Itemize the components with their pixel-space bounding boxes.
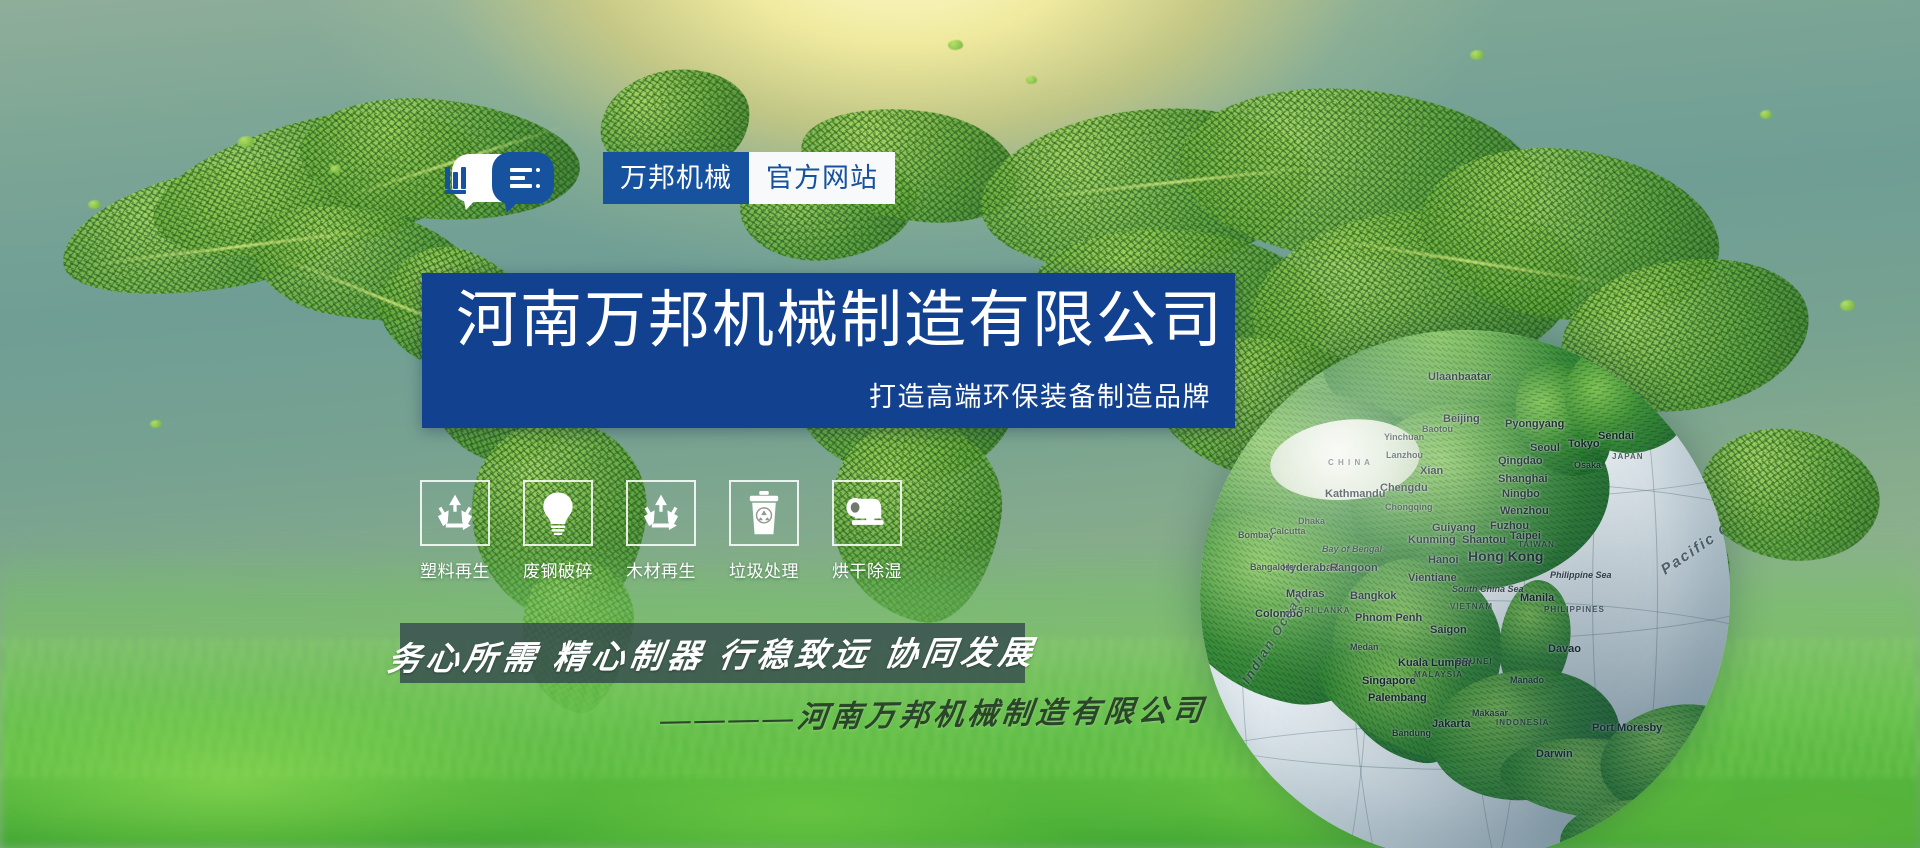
globe-country-label: MALAYSIA [1414, 670, 1463, 679]
slogan-text: 务心所需 精心制器 行稳致远 协同发展 [385, 626, 1041, 681]
globe-city-label: Guiyang [1432, 522, 1476, 534]
service-item-drying-dehumidification[interactable]: 烘干除湿 [832, 480, 902, 582]
globe-country-label: JAPAN [1612, 452, 1644, 461]
globe-city-label: Sendai [1598, 430, 1634, 442]
globe-city-label: Calcutta [1270, 526, 1306, 536]
floating-leaf-fleck [1840, 300, 1855, 311]
globe-city-label: Port Moresby [1592, 722, 1662, 734]
globe-city-label: Bombay [1238, 530, 1274, 540]
page-subtitle: 打造高端环保装备制造品牌 [869, 375, 1211, 414]
service-label: 木材再生 [626, 557, 696, 582]
globe-city-label: Bangkok [1350, 590, 1396, 602]
brand-bar: 万邦机械 官方网站 [452, 150, 895, 206]
globe-city-label: Phnom Penh [1355, 612, 1422, 624]
globe-city-label: Vientiane [1408, 572, 1457, 584]
trash-bin-recycle-icon [746, 491, 782, 535]
globe-city-label: Bangalore [1250, 562, 1294, 572]
globe-city-label: Xian [1420, 465, 1443, 477]
floating-leaf-fleck [330, 165, 341, 173]
globe-city-label: Saigon [1430, 624, 1467, 636]
page-title: 河南万邦机械制造有限公司 [456, 289, 1224, 352]
globe-city-label: Qingdao [1498, 455, 1543, 467]
company-logo[interactable] [452, 152, 558, 204]
globe-city-label: Makasar [1472, 708, 1508, 718]
logo-letter-b-icon [510, 168, 540, 188]
globe-country-label: C H I N A [1328, 458, 1371, 467]
floating-leaf-fleck [1760, 110, 1772, 119]
service-item-wood-recycling[interactable]: 木材再生 [626, 480, 696, 582]
globe-city-label: Ulaanbaatar [1428, 371, 1491, 383]
dryer-blower-icon [844, 496, 890, 530]
globe-city-label: Medan [1350, 642, 1379, 652]
recycle-icon [434, 492, 476, 534]
globe-city-label: Hong Kong [1468, 548, 1543, 564]
globe-city-label: Rangoon [1330, 562, 1378, 574]
lightbulb-icon [538, 491, 578, 535]
service-label: 塑料再生 [420, 557, 490, 582]
globe-city-label: Davao [1548, 643, 1581, 655]
globe-city-label: Kunming [1408, 534, 1456, 546]
globe-country-label: PHILIPPINES [1544, 605, 1605, 614]
globe-city-label: Seoul [1530, 442, 1560, 454]
tab-official-site[interactable]: 官方网站 [749, 152, 895, 204]
globe-city-label: Lanzhou [1386, 450, 1423, 460]
globe-sea-label: Bay of Bengal [1322, 544, 1382, 554]
service-icon-frame [729, 480, 799, 546]
hero-banner: Ulaanbaatar Beijing Pyongyang Seoul Toky… [0, 0, 1920, 848]
globe-city-label: Shantou [1462, 534, 1506, 546]
globe-city-label: Bandung [1392, 728, 1431, 738]
service-icon-frame [420, 480, 490, 546]
service-label: 废钢破碎 [523, 557, 593, 582]
globe-country-label: VIETNAM [1450, 602, 1493, 611]
globe-city-label: Kathmandu [1325, 488, 1386, 500]
slogan-bar: 务心所需 精心制器 行稳致远 协同发展 [400, 623, 1025, 683]
globe-sea-label: South China Sea [1452, 584, 1524, 594]
globe-city-label: Hanoi [1428, 554, 1459, 566]
globe-sea-label: Philippine Sea [1550, 570, 1612, 580]
globe-city-label: Chongqing [1385, 502, 1432, 512]
globe-sphere: Ulaanbaatar Beijing Pyongyang Seoul Toky… [1200, 330, 1730, 848]
globe-country-label: INDONESIA [1496, 718, 1549, 727]
tab-company-name[interactable]: 万邦机械 [603, 152, 749, 204]
headline-banner: 河南万邦机械制造有限公司 打造高端环保装备制造品牌 [422, 273, 1235, 428]
globe-country-label: BRUNEI [1456, 657, 1493, 666]
logo-letter-w-icon [445, 167, 466, 189]
globe-city-label: Dhaka [1298, 516, 1325, 526]
globe-country-label: SRI LANKA [1298, 606, 1351, 615]
globe-city-label: Baotou [1422, 424, 1453, 434]
recycle-icon [640, 492, 682, 534]
service-label: 垃圾处理 [729, 557, 799, 582]
service-item-plastic-recycling[interactable]: 塑料再生 [420, 480, 490, 582]
service-icon-frame [832, 480, 902, 546]
globe-city-label: Wenzhou [1500, 505, 1549, 517]
globe-illustration: Ulaanbaatar Beijing Pyongyang Seoul Toky… [1200, 330, 1730, 848]
globe-city-label: Manado [1510, 675, 1544, 685]
globe-city-label: Manila [1520, 592, 1554, 604]
floating-leaf-fleck [238, 136, 254, 147]
globe-city-label: Shanghai [1498, 473, 1548, 485]
service-icon-row: 塑料再生 废钢破碎 [420, 480, 902, 582]
globe-city-label: Darwin [1536, 748, 1573, 760]
service-item-waste-treatment[interactable]: 垃圾处理 [729, 480, 799, 582]
globe-city-label: Palembang [1368, 692, 1427, 704]
service-icon-frame [626, 480, 696, 546]
globe-city-label: Chengdu [1380, 482, 1428, 494]
floating-leaf-fleck [1026, 76, 1037, 84]
globe-city-label: Osaka [1574, 460, 1601, 470]
globe-city-label: Tokyo [1568, 438, 1600, 450]
globe-country-label: TAIWAN [1518, 540, 1555, 549]
globe-city-label: Jakarta [1432, 718, 1471, 730]
floating-leaf-fleck [1470, 50, 1484, 60]
service-item-scrap-steel-crushing[interactable]: 废钢破碎 [523, 480, 593, 582]
service-label: 烘干除湿 [832, 557, 902, 582]
floating-leaf-fleck [150, 420, 162, 428]
service-icon-frame [523, 480, 593, 546]
globe-city-label: Yinchuan [1384, 432, 1424, 442]
globe-city-label: Singapore [1362, 675, 1416, 687]
floating-leaf-fleck [948, 40, 963, 50]
floating-leaf-fleck [88, 200, 101, 209]
globe-city-label: Ningbo [1502, 488, 1540, 500]
globe-city-label: Pyongyang [1505, 418, 1564, 430]
